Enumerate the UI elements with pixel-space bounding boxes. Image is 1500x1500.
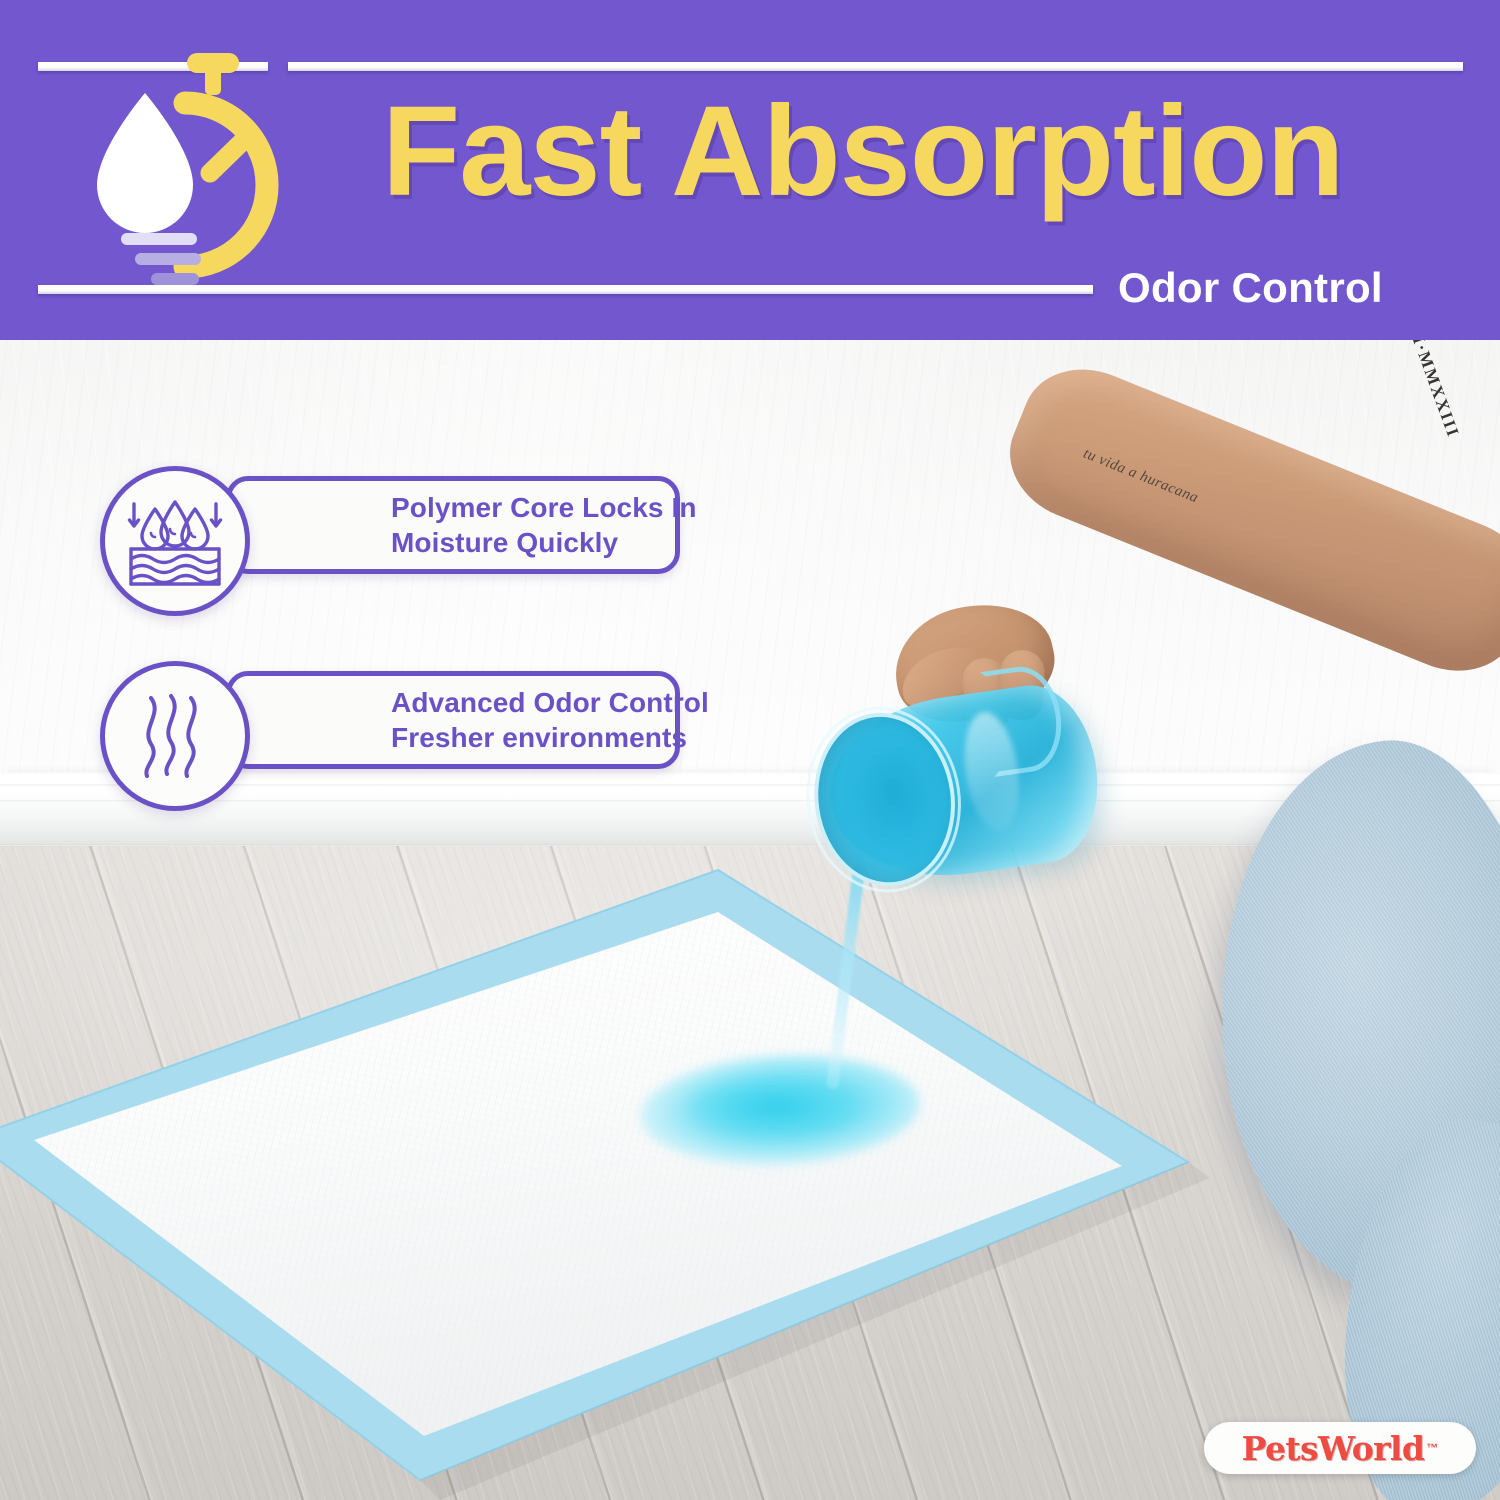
brand-wordmark: PetsWorld — [1242, 1432, 1425, 1465]
brand-logo: PetsWorld™ — [1204, 1422, 1476, 1474]
absorb-droplets-layers-icon — [100, 466, 250, 616]
feature-badge-pill: Polymer Core Locks In Moisture Quickly — [226, 476, 680, 574]
product-feature-image: tu vida a huracana IV·VI·MMXXIII — [0, 0, 1500, 1500]
feature-label-line-2: Fresher environments — [391, 720, 675, 755]
feature-badge-polymer-core[interactable]: Polymer Core Locks In Moisture Quickly — [100, 466, 680, 584]
feature-label-line-1: Advanced Odor Control — [391, 685, 675, 720]
feature-label-line-1: Polymer Core Locks In — [391, 490, 675, 525]
banner-subtitle: Odor Control — [1118, 264, 1383, 312]
divider-top-right — [288, 62, 1463, 71]
puppy-training-pad — [0, 840, 1420, 1500]
feature-label-line-2: Moisture Quickly — [391, 525, 675, 560]
odor-waves-icon — [100, 661, 250, 811]
header-banner: Fast Absorption Odor Control — [0, 0, 1500, 340]
feature-badge-pill: Advanced Odor Control Fresher environmen… — [226, 671, 680, 769]
water-droplet-stopwatch-icon — [75, 45, 325, 295]
page-title: Fast Absorption — [382, 88, 1462, 216]
feature-badge-odor-control[interactable]: Advanced Odor Control Fresher environmen… — [100, 661, 680, 779]
trademark-symbol: ™ — [1426, 1441, 1438, 1455]
